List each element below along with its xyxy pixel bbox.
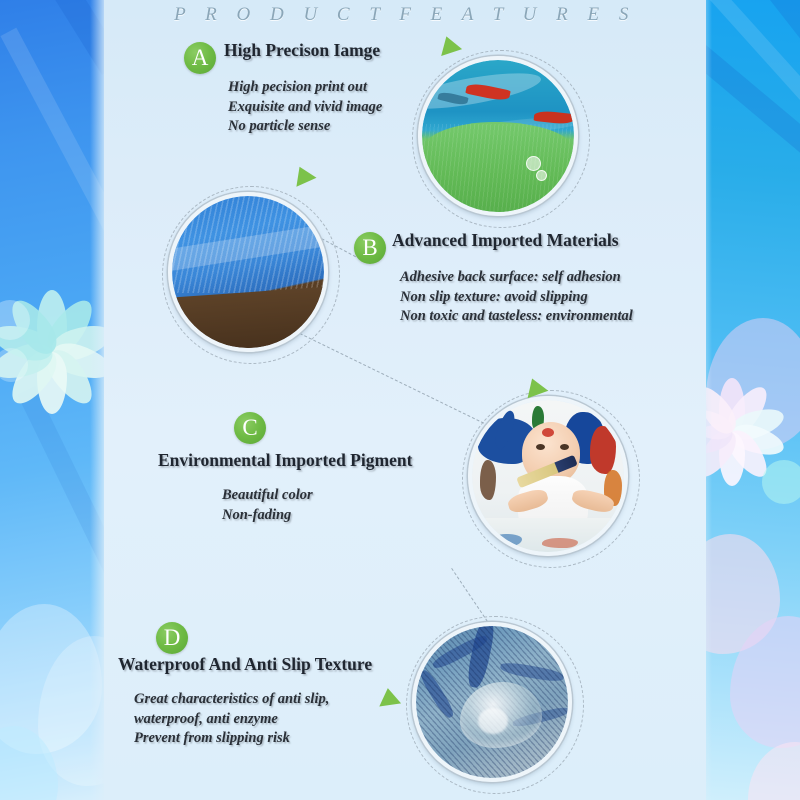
bullet-b-1: Adhesive back surface: self adhesion xyxy=(400,268,633,288)
bullet-b-3: Non toxic and tasteless: environmental xyxy=(400,307,633,327)
photo-fish-printed-mat xyxy=(418,56,578,216)
photo-blue-ribbed-backing xyxy=(168,192,328,352)
badge-a: A xyxy=(184,42,216,74)
bullet-a-2: Exquisite and vivid image xyxy=(228,98,382,118)
bullet-a-3: No particle sense xyxy=(228,117,382,137)
right-decorative-border xyxy=(704,0,800,800)
infographic-root: P R O D U C T F E A T U R E S A High Pre… xyxy=(0,0,800,800)
bullet-c-2: Non-fading xyxy=(222,506,313,526)
bullets-c: Beautiful color Non-fading xyxy=(222,486,313,525)
badge-b: B xyxy=(354,232,386,264)
heading-d: Waterproof And Anti Slip Texture xyxy=(118,654,372,675)
photo-water-droplet-texture xyxy=(412,622,572,782)
bullet-d-1: Great characteristics of anti slip, xyxy=(134,690,329,710)
bullet-c-1: Beautiful color xyxy=(222,486,313,506)
bullet-b-2: Non slip texture: avoid slipping xyxy=(400,288,633,308)
bullets-d: Great characteristics of anti slip, wate… xyxy=(134,690,329,749)
page-title: P R O D U C T F E A T U R E S xyxy=(104,4,706,26)
content-panel xyxy=(104,0,706,800)
heading-a: High Precison Iamge xyxy=(224,40,380,61)
badge-c: C xyxy=(234,412,266,444)
left-decorative-border xyxy=(0,0,108,800)
bullets-b: Adhesive back surface: self adhesion Non… xyxy=(400,268,633,327)
bullet-d-3: Prevent from slipping risk xyxy=(134,729,329,749)
bullet-d-2: waterproof, anti enzyme xyxy=(134,710,329,730)
photo-baby-painting xyxy=(468,396,628,556)
badge-d: D xyxy=(156,622,188,654)
bullets-a: High pecision print out Exquisite and vi… xyxy=(228,78,382,137)
arrow-d xyxy=(377,687,401,707)
heading-c: Environmental Imported Pigment xyxy=(158,450,412,471)
bullet-a-1: High pecision print out xyxy=(228,78,382,98)
heading-b: Advanced Imported Materials xyxy=(392,230,619,251)
